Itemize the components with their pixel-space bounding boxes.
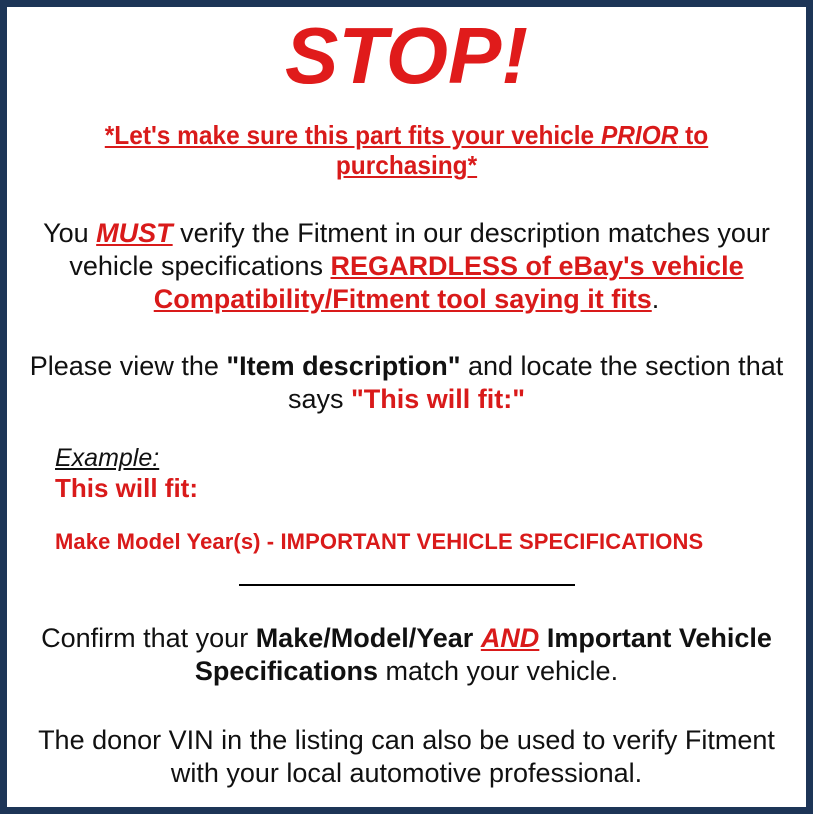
thank-you-line: Thank you for confirming Fitment!	[19, 806, 794, 814]
example-specification-line: Make Model Year(s) - IMPORTANT VEHICLE S…	[55, 529, 794, 554]
subtitle-emphasis-prior: PRIOR	[601, 120, 678, 150]
item-description-emphasis: "Item description"	[226, 351, 460, 381]
paragraph-donor-vin: The donor VIN in the listing can also be…	[19, 724, 794, 790]
subtitle-banner: *Let's make sure this part fits your veh…	[42, 121, 771, 181]
paragraph-item-description: Please view the "Item description" and l…	[19, 350, 794, 416]
horizontal-divider	[239, 584, 575, 586]
must-text-lead: You	[43, 218, 96, 248]
this-will-fit-emphasis: "This will fit:"	[351, 384, 525, 414]
description-text-lead: Please view the	[30, 351, 227, 381]
make-model-year-emphasis: Make/Model/Year	[256, 623, 474, 653]
confirm-space-1	[473, 623, 481, 653]
page-title: STOP!	[19, 7, 794, 99]
paragraph-confirm: Confirm that your Make/Model/Year AND Im…	[19, 622, 794, 688]
fitment-notice-card: STOP! *Let's make sure this part fits yo…	[0, 0, 813, 814]
and-emphasis: AND	[481, 623, 540, 653]
notice-content: STOP! *Let's make sure this part fits yo…	[7, 7, 806, 807]
must-text-period: .	[652, 284, 660, 314]
confirm-text-tail: match your vehicle.	[378, 656, 618, 686]
divider-container	[19, 576, 794, 594]
must-emphasis: MUST	[96, 218, 173, 248]
example-label: Example:	[55, 444, 794, 472]
example-block: Example: This will fit: Make Model Year(…	[19, 444, 794, 554]
confirm-space-2	[539, 623, 547, 653]
confirm-text-lead: Confirm that your	[41, 623, 256, 653]
paragraph-must-verify: You MUST verify the Fitment in our descr…	[19, 217, 794, 316]
subtitle-lead: *Let's make sure this part fits your veh…	[105, 120, 601, 150]
example-this-will-fit: This will fit:	[55, 474, 794, 503]
